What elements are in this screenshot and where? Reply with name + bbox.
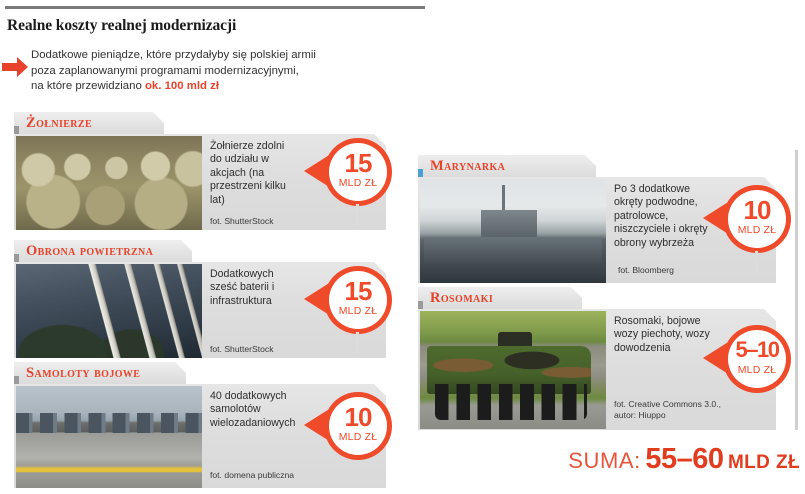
- apc-wheels: [435, 384, 588, 419]
- top-rule: [5, 6, 425, 9]
- summary-label: SUMA:: [568, 448, 641, 473]
- summary-total: SUMA: 55–60 MLD ZŁ: [520, 443, 800, 476]
- badge-value: 15: [329, 278, 387, 304]
- card-tab: Żołnierze: [14, 112, 164, 134]
- card-obrona-powietrzna: Obrona powietrzna Dodatkowych sześć bate…: [14, 240, 400, 358]
- card-zolnierze: Żołnierze Żołnierze zdolni do udziału w …: [14, 112, 400, 230]
- lead-line-2: poza zaplanowanymi programami modernizac…: [31, 65, 299, 77]
- jets-row: [16, 413, 202, 433]
- ship-superstructure: [481, 210, 537, 237]
- summary-value: 55–60: [645, 443, 723, 475]
- card-description: Żołnierze zdolni do udziału w akcjach (n…: [210, 140, 298, 207]
- card-tab: Marynarka: [418, 155, 596, 177]
- badge-unit: MLD ZŁ: [329, 177, 387, 189]
- card-label: Żołnierze: [26, 115, 92, 132]
- page-title: Realne koszty realnej modernizacji: [7, 17, 427, 35]
- card-label: Marynarka: [430, 158, 505, 175]
- badge-unit: MLD ZŁ: [329, 431, 387, 443]
- badge-unit: MLD ZŁ: [329, 305, 387, 317]
- badge-unit: MLD ZŁ: [728, 364, 786, 376]
- value-badge: 10 MLD ZŁ: [304, 392, 394, 482]
- card-description: Dodatkowych sześć baterii i infrastruktu…: [210, 268, 302, 308]
- tab-marker: [14, 126, 19, 134]
- value-badge: 15 MLD ZŁ: [304, 266, 394, 356]
- card-label: Samoloty bojowe: [26, 365, 140, 382]
- card-rosomaki: Rosomaki Rosomaki, bojowe wozy piechoty,…: [418, 287, 796, 430]
- infographic-root: Realne koszty realnej modernizacji Dodat…: [0, 0, 805, 494]
- summary-unit: MLD ZŁ: [728, 452, 800, 473]
- value-badge: 15 MLD ZŁ: [304, 138, 394, 228]
- tab-marker: [14, 254, 19, 262]
- right-rail: [795, 150, 798, 430]
- lead-line-1: Dodatkowe pieniądze, które przydałyby si…: [31, 49, 316, 61]
- badge-stem: [356, 204, 359, 226]
- badge-value: 10: [329, 404, 387, 430]
- card-label: Obrona powietrzna: [26, 243, 153, 260]
- card-samoloty-bojowe: Samoloty bojowe 40 dodatkowych samolotów…: [14, 362, 400, 488]
- warship-photo: [420, 179, 606, 283]
- jets-photo: [16, 386, 202, 488]
- badge-stem: [356, 332, 359, 354]
- card-tab: Samoloty bojowe: [14, 362, 186, 384]
- badge-value: 15: [329, 150, 387, 176]
- lead-paragraph: Dodatkowe pieniądze, które przydałyby si…: [31, 48, 396, 95]
- tab-marker: [418, 169, 423, 177]
- card-tab: Obrona powietrzna: [14, 240, 192, 262]
- value-badge: 5–10 MLD ZŁ: [703, 325, 793, 415]
- missiles-photo: [16, 264, 202, 358]
- tab-marker: [418, 301, 423, 309]
- badge-value: 5–10: [725, 337, 789, 363]
- card-tab: Rosomaki: [418, 287, 582, 309]
- badge-unit: MLD ZŁ: [728, 224, 786, 236]
- badge-stem: [755, 251, 758, 273]
- lead-highlight: ok. 100 mld zł: [145, 80, 219, 92]
- badge-value: 10: [728, 197, 786, 223]
- lead-line-3: na które przewidziano: [31, 80, 145, 92]
- apc-photo: [420, 311, 606, 429]
- soldiers-photo: [16, 136, 202, 230]
- card-marynarka: Marynarka Po 3 dodatkowe okręty podwodne…: [418, 155, 796, 283]
- card-description: 40 dodatkowych samolotów wielozadaniowyc…: [210, 390, 302, 430]
- ship-hull: [424, 237, 603, 264]
- arrow-right-icon: [2, 57, 28, 77]
- value-badge: 10 MLD ZŁ: [703, 185, 793, 275]
- tab-marker: [14, 376, 19, 384]
- card-label: Rosomaki: [430, 290, 493, 307]
